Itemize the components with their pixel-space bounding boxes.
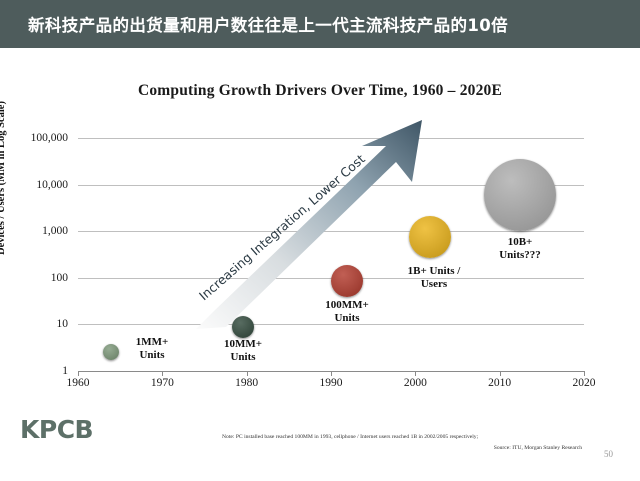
bubble-label: 100MM+Units: [325, 299, 369, 325]
data-bubble[interactable]: [409, 216, 451, 258]
bubble-label-line: 100MM+: [325, 299, 369, 312]
data-bubble[interactable]: [484, 159, 556, 231]
footnote-block: Note: PC installed base reached 100MM in…: [222, 432, 582, 453]
x-tick-mark: [331, 371, 332, 376]
data-bubble[interactable]: [103, 344, 119, 360]
chart-container: 1101001,00010,000100,000 196019701980199…: [0, 0, 640, 481]
y-tick-label: 1: [62, 365, 68, 377]
bubble-label-line: 1MM+: [136, 336, 169, 349]
bubble-label-line: 10B+: [499, 236, 541, 249]
y-tick-label: 10,000: [36, 179, 68, 191]
gridline: [78, 231, 584, 232]
bubble-label-line: Units: [224, 351, 262, 364]
bubble-label: 1B+ Units /Users: [408, 265, 461, 291]
page-number: 50: [604, 449, 613, 459]
gridline: [78, 138, 584, 139]
kpcb-logo: KPCB: [20, 415, 93, 444]
x-tick-mark: [162, 371, 163, 376]
footnote-note: Note: PC installed base reached 100MM in…: [222, 432, 582, 443]
x-tick-mark: [415, 371, 416, 376]
x-tick-label: 1990: [320, 377, 343, 389]
footnote-source: Source: ITU, Morgan Stanley Research: [222, 443, 582, 454]
slide-canvas: 新科技产品的出货量和用户数往往是上一代主流科技产品的10倍 Computing …: [0, 0, 640, 481]
x-tick-label: 1970: [151, 377, 174, 389]
bubble-label: 10MM+Units: [224, 338, 262, 364]
y-tick-label: 100: [51, 272, 68, 284]
bubble-label-line: Users: [408, 278, 461, 291]
x-tick-mark: [247, 371, 248, 376]
data-bubble[interactable]: [331, 265, 363, 297]
bubble-label-line: 10MM+: [224, 338, 262, 351]
x-tick-label: 1980: [235, 377, 258, 389]
y-tick-label: 100,000: [31, 132, 68, 144]
x-tick-label: 2010: [488, 377, 511, 389]
bubble-label-line: Units: [136, 349, 169, 362]
bubble-label-line: Units???: [499, 249, 541, 262]
x-tick-label: 2000: [404, 377, 427, 389]
x-tick-label: 1960: [67, 377, 90, 389]
x-tick-mark: [584, 371, 585, 376]
x-tick-mark: [500, 371, 501, 376]
y-tick-label: 1,000: [42, 225, 68, 237]
bubble-label-line: 1B+ Units /: [408, 265, 461, 278]
y-tick-label: 10: [57, 318, 69, 330]
x-tick-label: 2020: [573, 377, 596, 389]
y-axis-title: Devices / Users (MM in Log Scale): [0, 101, 7, 255]
bubble-label-line: Units: [325, 312, 369, 325]
bubble-label: 10B+Units???: [499, 236, 541, 262]
x-tick-mark: [78, 371, 79, 376]
bubble-label: 1MM+Units: [136, 336, 169, 362]
data-bubble[interactable]: [232, 316, 254, 338]
